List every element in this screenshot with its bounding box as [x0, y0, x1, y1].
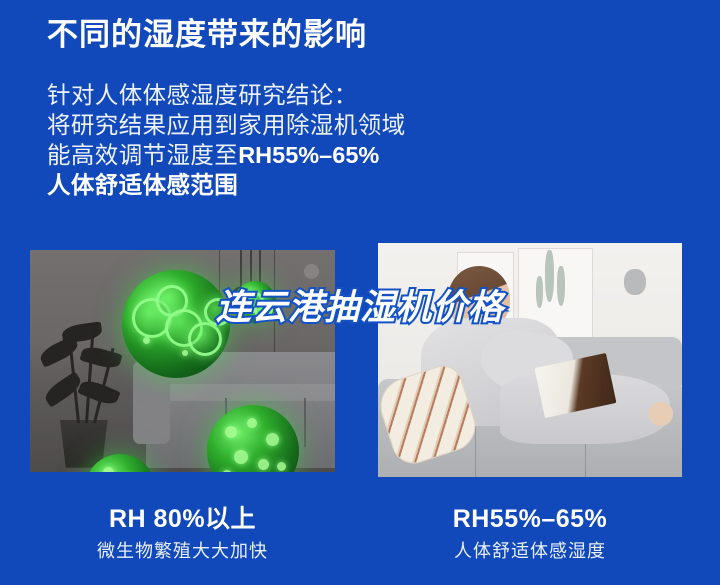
humidity-range-highlight: RH55%–65%: [238, 142, 379, 168]
intro-line-2: 将研究结果应用到家用除湿机领域: [47, 110, 477, 140]
intro-paragraph: 针对人体体感湿度研究结论： 将研究结果应用到家用除湿机领域 能高效调节湿度至RH…: [47, 80, 477, 200]
intro-line-1: 针对人体体感湿度研究结论：: [47, 80, 477, 110]
intro-line-4: 人体舒适体感范围: [47, 170, 477, 200]
wall-lamp-icon: [304, 264, 319, 279]
person-foot: [649, 402, 673, 425]
poster-canvas: 不同的湿度带来的影响 针对人体体感湿度研究结论： 将研究结果应用到家用除湿机领域…: [0, 0, 720, 585]
caption-left-title: RH 80%以上: [30, 505, 335, 535]
caption-left-subtitle: 微生物繁殖大大加快: [30, 541, 335, 563]
potted-plant: [33, 308, 137, 468]
page-title: 不同的湿度带来的影响: [47, 16, 367, 53]
caption-high-humidity: RH 80%以上 微生物繁殖大大加快: [30, 505, 335, 562]
caption-right-subtitle: 人体舒适体感湿度: [378, 541, 682, 563]
watermark-text: 连云港抽湿机价格: [0, 279, 720, 330]
caption-right-title: RH55%–65%: [378, 505, 682, 535]
intro-line-3-prefix: 能高效调节湿度至: [47, 142, 238, 168]
caption-comfort-humidity: RH55%–65% 人体舒适体感湿度: [378, 505, 682, 562]
intro-line-3: 能高效调节湿度至RH55%–65%: [47, 140, 477, 170]
